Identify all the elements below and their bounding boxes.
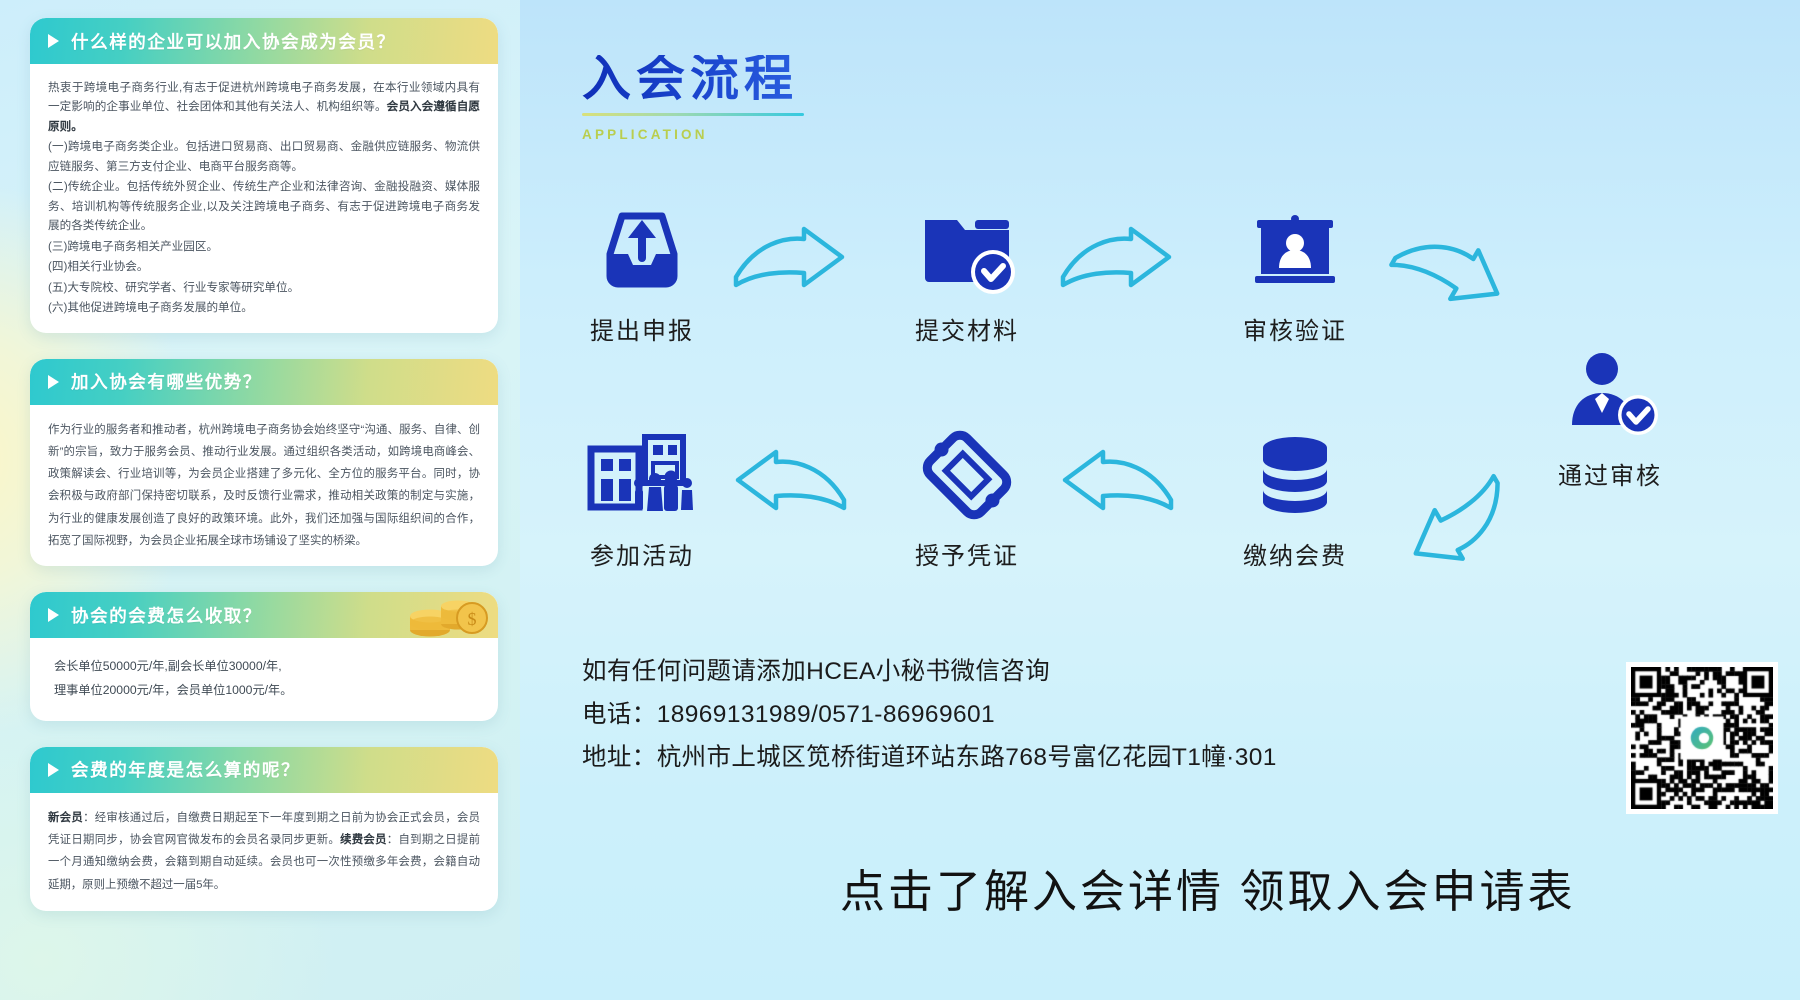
flow-step-grant-certificate[interactable]: 授予凭证 xyxy=(877,420,1057,571)
paragraph: (四)相关行业协会。 xyxy=(48,257,480,276)
flow-step-submit-materials[interactable]: 提交材料 xyxy=(877,195,1057,346)
faq-card-membership-eligibility: 什么样的企业可以加入协会成为会员？ 热衷于跨境电子商务行业,有志于促进杭州跨境电… xyxy=(30,18,498,333)
paragraph: 新会员：经审核通过后，自缴费日期起至下一年度到期之日前为协会正式会员，会员凭证日… xyxy=(48,807,480,896)
svg-text:$: $ xyxy=(468,609,477,629)
flow-step-label: 授予凭证 xyxy=(877,536,1057,571)
card-header: 什么样的企业可以加入协会成为会员？ xyxy=(30,18,498,64)
application-flow-panel: 入会流程 APPLICATION 提出申报 xyxy=(520,0,1800,1000)
person-verified-icon xyxy=(1520,340,1700,450)
triangle-bullet-icon xyxy=(48,763,59,777)
paragraph: (二)传统企业。包括传统外贸企业、传统生产企业和法律咨询、金融投融资、媒体服务、… xyxy=(48,177,480,235)
card-title: 协会的会费怎么收取？ xyxy=(71,603,262,628)
flow-step-approved[interactable]: 通过审核 xyxy=(1520,340,1700,491)
fee-line: 会长单位50000元/年,副会长单位30000/年, xyxy=(54,654,480,678)
contact-wechat-line: 如有任何问题请添加HCEA小秘书微信咨询 xyxy=(582,650,1277,693)
flow-step-join-activities[interactable]: 参加活动 xyxy=(552,420,732,571)
flow-step-label: 提交材料 xyxy=(877,311,1057,346)
flow-step-submit-application[interactable]: 提出申报 xyxy=(552,195,732,346)
card-title: 什么样的企业可以加入协会成为会员？ xyxy=(71,29,396,54)
infographic-page: 什么样的企业可以加入协会成为会员？ 热衷于跨境电子商务行业,有志于促进杭州跨境电… xyxy=(0,0,1800,1000)
flow-steps: 提出申报 提交材料 xyxy=(520,0,1800,1000)
paragraph: 热衷于跨境电子商务行业,有志于促进杭州跨境电子商务发展，在本行业领域内具有一定影… xyxy=(48,78,480,136)
flow-step-label: 缴纳会费 xyxy=(1205,536,1385,571)
card-body: 热衷于跨境电子商务行业,有志于促进杭州跨境电子商务发展，在本行业领域内具有一定影… xyxy=(30,64,498,333)
bold-emphasis: 续费会员 xyxy=(340,834,387,846)
card-title: 加入协会有哪些优势？ xyxy=(71,369,262,394)
paragraph: (六)其他促进跨境电子商务发展的单位。 xyxy=(48,298,480,317)
triangle-bullet-icon xyxy=(48,375,59,389)
arrow-down-left-icon xyxy=(1380,455,1510,565)
folder-check-icon xyxy=(877,195,1057,305)
contact-phone-line: 电话：18969131989/0571-86969601 xyxy=(582,693,1277,736)
coins-stack-database-icon xyxy=(1205,420,1385,530)
flow-step-pay-fees[interactable]: 缴纳会费 xyxy=(1205,420,1385,571)
certificate-diamond-icon xyxy=(877,420,1057,530)
paragraph: (一)跨境电子商务类企业。包括进口贸易商、出口贸易商、金融供应链服务、物流供应链… xyxy=(48,137,480,176)
contact-block: 如有任何问题请添加HCEA小秘书微信咨询 电话：18969131989/0571… xyxy=(582,650,1277,779)
fee-line: 理事单位20000元/年，会员单位1000元/年。 xyxy=(54,678,480,702)
faq-card-membership-benefits: 加入协会有哪些优势？ 作为行业的服务者和推动者，杭州跨境电子商务协会始终坚守“沟… xyxy=(30,359,498,566)
flow-step-label: 审核验证 xyxy=(1205,311,1385,346)
faq-card-membership-fees: 协会的会费怎么收取？ $ xyxy=(30,592,498,721)
gold-coins-icon: $ xyxy=(400,592,492,646)
arrow-right-1-icon xyxy=(730,225,850,295)
bold-emphasis: 新会员 xyxy=(48,812,83,824)
card-body: 会长单位50000元/年,副会长单位30000/年, 理事单位20000元/年，… xyxy=(30,638,498,721)
card-header: 协会的会费怎么收取？ $ xyxy=(30,592,498,638)
id-board-person-icon xyxy=(1205,195,1385,305)
arrow-left-1-icon xyxy=(1057,448,1177,518)
card-body: 作为行业的服务者和推动者，杭州跨境电子商务协会始终坚守“沟通、服务、自律、创新”… xyxy=(30,405,498,566)
faq-panel: 什么样的企业可以加入协会成为会员？ 热衷于跨境电子商务行业,有志于促进杭州跨境电… xyxy=(0,0,520,1000)
flow-step-label: 通过审核 xyxy=(1520,456,1700,491)
triangle-bullet-icon xyxy=(48,608,59,622)
cta-text[interactable]: 点击了解入会详情 领取入会申请表 xyxy=(840,855,1576,920)
qr-canvas xyxy=(1631,667,1773,809)
card-header: 加入协会有哪些优势？ xyxy=(30,359,498,405)
triangle-bullet-icon xyxy=(48,34,59,48)
arrow-right-2-icon xyxy=(1057,225,1177,295)
card-header: 会费的年度是怎么算的呢？ xyxy=(30,747,498,793)
wechat-qr-code[interactable] xyxy=(1626,662,1778,814)
upload-tray-icon xyxy=(552,195,732,305)
flow-step-label: 提出申报 xyxy=(552,311,732,346)
card-body: 新会员：经审核通过后，自缴费日期起至下一年度到期之日前为协会正式会员，会员凭证日… xyxy=(30,793,498,911)
arrow-left-2-icon xyxy=(730,448,850,518)
arrow-down-right-icon xyxy=(1380,235,1510,345)
contact-address-line: 地址：杭州市上城区笕桥街道环站东路768号富亿花园T1幢·301 xyxy=(582,736,1277,779)
flow-step-label: 参加活动 xyxy=(552,536,732,571)
card-title: 会费的年度是怎么算的呢？ xyxy=(71,757,300,782)
paragraph: (五)大专院校、研究学者、行业专家等研究单位。 xyxy=(48,278,480,297)
faq-card-fee-year: 会费的年度是怎么算的呢？ 新会员：经审核通过后，自缴费日期起至下一年度到期之日前… xyxy=(30,747,498,911)
paragraph: (三)跨境电子商务相关产业园区。 xyxy=(48,237,480,256)
flow-step-review-verification[interactable]: 审核验证 xyxy=(1205,195,1385,346)
buildings-people-icon xyxy=(552,420,732,530)
